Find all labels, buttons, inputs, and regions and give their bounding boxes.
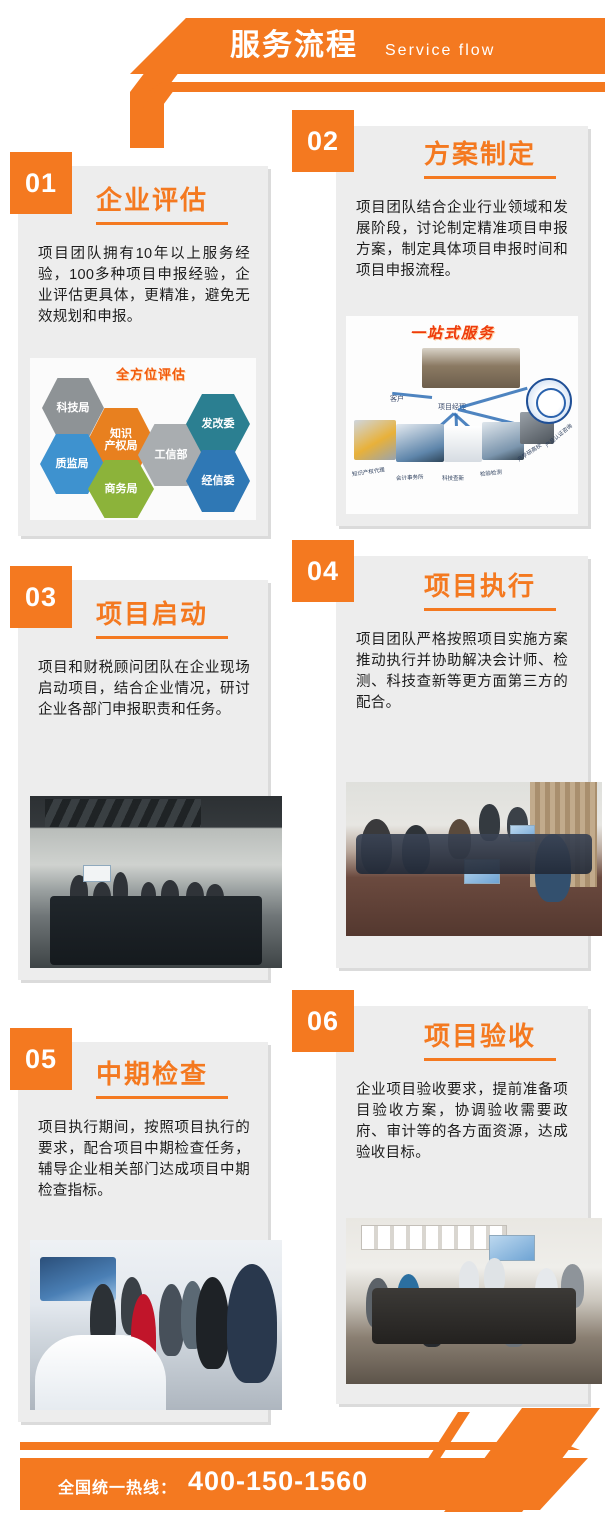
person-figure (418, 1291, 446, 1347)
hexagon-node-label: 发改委 (202, 418, 235, 430)
card-05-body: 项目执行期间，按照项目执行的要求，配合项目中期检查任务，辅导企业相关部门达成项目… (38, 1118, 250, 1202)
hotline-number[interactable]: 400-150-1560 (188, 1466, 368, 1497)
card-03-number-badge: 03 (10, 566, 72, 628)
hexagon-node-label: 科技局 (57, 402, 90, 414)
header-thin-stripe (148, 82, 605, 92)
person-figure (186, 882, 204, 911)
person-figure (93, 882, 111, 913)
person-figure (507, 807, 527, 841)
person-figure (131, 1294, 156, 1379)
person-figure (479, 804, 499, 841)
card-03[interactable]: 项目启动 项目和财税顾问团队在企业现场启动项目，结合企业情况，研讨企业各部门申报… (18, 580, 268, 980)
hexagon-node-label: 工信部 (155, 449, 188, 461)
hexagon-node-label: 知识 产权局 (105, 428, 138, 452)
one-stop-label-3: 检验检测 (480, 468, 503, 478)
person-figure (161, 880, 179, 909)
whiteboard (83, 865, 111, 882)
one-stop-label-0: 知识产权代理 (351, 465, 385, 478)
person-figure (106, 899, 131, 940)
one-stop-photo-accounting (396, 424, 444, 462)
card-04-body: 项目团队严格按照项目实施方案推动执行并协助解决会计师、检测、科技查新等更方面第三… (356, 630, 568, 714)
person-figure (90, 1284, 115, 1352)
person-figure (196, 1277, 229, 1369)
person-figure (535, 834, 571, 902)
one-stop-title: 一站式服务 (410, 322, 495, 343)
person-figure (227, 1264, 277, 1383)
hexagon-assessment-diagram: 全方位评估 科技局 知识 产权局 质监局 商务局 工信部 发改委 经信委 (30, 358, 256, 520)
person-figure (484, 1258, 504, 1295)
card-01-title-rule (96, 222, 228, 225)
card-03-title-rule (96, 636, 228, 639)
page-title: 服务流程 (230, 26, 358, 66)
person-figure (206, 884, 224, 912)
laptop-screen (464, 859, 500, 884)
hexagon-node-label: 质监局 (56, 458, 89, 470)
person-figure (159, 1284, 184, 1355)
person-figure (500, 1291, 528, 1347)
card-06-title-rule (424, 1058, 556, 1061)
card-05-number-badge: 05 (10, 1028, 72, 1090)
card-01-body: 项目团队拥有10年以上服务经验，100多种项目申报经验，企业评估更具体，更精准，… (38, 244, 250, 328)
card-01-number-badge: 01 (10, 152, 72, 214)
card-06-title: 项目验收 (424, 1016, 536, 1053)
hotline-label: 全国统一热线： (58, 1474, 177, 1498)
page-subtitle: Service flow (385, 36, 495, 66)
one-stop-photo-ip (354, 420, 396, 460)
person-figure (448, 819, 471, 859)
one-stop-center-photo (422, 348, 520, 388)
card-06[interactable]: 项目验收 企业项目验收要求，提前准备项目验收方案，协调验收需要政府、审计等的各方… (336, 1006, 588, 1404)
infographic-page: 服务流程 Service flow 企业评估 项目团队拥有10年以上服务经验，1… (0, 0, 605, 1538)
card-02[interactable]: 方案制定 项目团队结合企业行业领域和发展阶段，讨论制定精准项目申报方案，制定具体… (336, 126, 588, 526)
person-figure (146, 903, 176, 951)
arrow-icon (460, 387, 528, 409)
footer-thin-stripe (20, 1442, 580, 1450)
person-figure (361, 819, 392, 874)
one-stop-label-1: 会计事务所 (396, 473, 424, 482)
card-02-number-badge: 02 (292, 110, 354, 172)
conference-hall-photo (346, 1218, 602, 1384)
person-figure (397, 1274, 420, 1320)
card-05-title: 中期检查 (96, 1054, 208, 1091)
card-02-body: 项目团队结合企业行业领域和发展阶段，讨论制定精准项目申报方案，制定具体项目申报时… (356, 198, 568, 282)
card-04[interactable]: 项目执行 项目团队严格按照项目实施方案推动执行并协助解决会计师、检测、科技查新等… (336, 556, 588, 968)
header-orange-band (130, 18, 605, 74)
one-stop-label-2: 科技查新 (442, 474, 464, 482)
card-01[interactable]: 企业评估 项目团队拥有10年以上服务经验，100多种项目申报经验，企业评估更具体… (18, 166, 268, 536)
meeting-table-photo (346, 782, 602, 936)
card-06-body: 企业项目验收要求，提前准备项目验收方案，协调验收需要政府、审计等的各方面资源，达… (356, 1080, 568, 1164)
hexagon-node-label: 经信委 (202, 475, 235, 487)
hexagon-diagram-title: 全方位评估 (116, 364, 186, 383)
laptop-screen (510, 825, 536, 842)
page-header: 服务流程 Service flow (0, 0, 605, 110)
one-stop-photo-search (444, 426, 482, 462)
card-02-title-rule (424, 176, 556, 179)
lobby-visit-photo (30, 1240, 282, 1410)
person-figure (402, 825, 430, 874)
conference-room-photo (30, 796, 282, 968)
card-03-title: 项目启动 (96, 594, 208, 631)
card-04-title: 项目执行 (424, 566, 536, 603)
card-05-title-rule (96, 1096, 228, 1099)
person-figure (561, 1264, 584, 1307)
person-figure (459, 1261, 479, 1298)
person-figure (535, 1268, 558, 1314)
card-06-number-badge: 06 (292, 990, 354, 1052)
card-02-title: 方案制定 (424, 134, 536, 171)
card-03-body: 项目和财税顾问团队在企业现场启动项目，结合企业情况，研讨企业各部门申报职责和任务… (38, 658, 250, 721)
projector-screen (489, 1235, 535, 1262)
person-figure (141, 882, 156, 910)
card-04-number-badge: 04 (292, 540, 354, 602)
card-04-title-rule (424, 608, 556, 611)
hexagon-node-label: 商务局 (105, 483, 138, 495)
card-05[interactable]: 中期检查 项目执行期间，按照项目执行的要求，配合项目中期检查任务，辅导企业相关部… (18, 1042, 268, 1422)
certification-seal-icon (526, 378, 572, 424)
card-01-title: 企业评估 (96, 180, 208, 217)
person-figure (113, 872, 128, 906)
one-stop-service-diagram: 一站式服务 客户 项目经理 知识产权代理 会计事务所 科技查新 检验检测 产学研… (346, 316, 578, 514)
person-figure (366, 1278, 389, 1328)
